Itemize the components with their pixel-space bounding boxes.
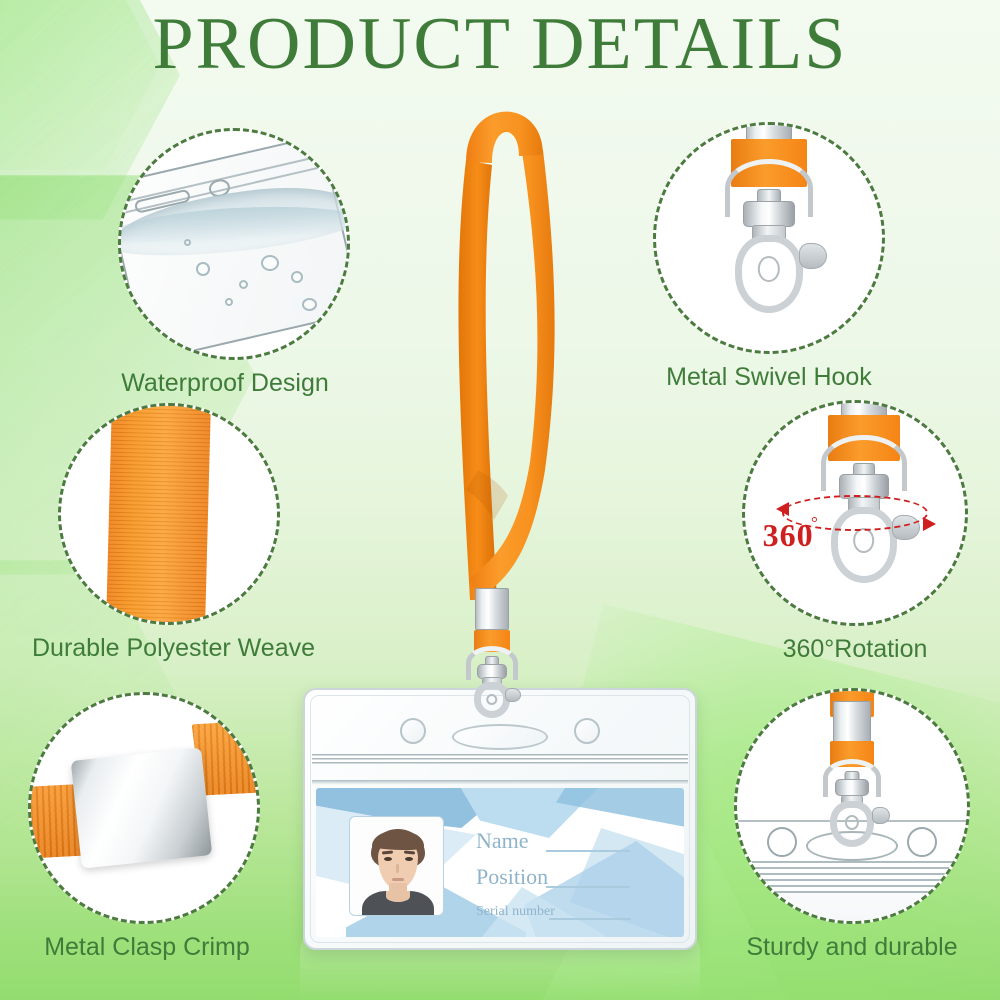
feature-caption: 360°Rotation bbox=[742, 635, 968, 664]
badge-hole-right bbox=[574, 718, 600, 744]
field-label-name: Name bbox=[476, 828, 529, 854]
feature-metal-clasp-crimp[interactable]: Metal Clasp Crimp bbox=[28, 692, 260, 962]
feature-durable-polyester-weave[interactable]: Durable Polyester Weave bbox=[58, 403, 315, 663]
waterproof-design-image bbox=[118, 128, 350, 360]
metal-clasp-crimp-image bbox=[28, 692, 260, 924]
feature-sturdy-and-durable[interactable]: Sturdy and durable bbox=[734, 688, 970, 962]
feature-waterproof-design[interactable]: Waterproof Design bbox=[118, 128, 350, 398]
rotation-degree-symbol: ° bbox=[811, 513, 818, 533]
feature-caption: Durable Polyester Weave bbox=[32, 634, 315, 663]
avatar bbox=[349, 816, 444, 916]
feature-caption: Metal Swivel Hook bbox=[653, 363, 885, 392]
center-swivel-hook bbox=[449, 588, 535, 718]
sturdy-and-durable-image bbox=[734, 688, 970, 924]
badge-zip-lines bbox=[734, 861, 970, 893]
badge-hole bbox=[767, 827, 797, 857]
rotation-image: 360 ° bbox=[742, 400, 968, 626]
durable-polyester-weave-image bbox=[58, 403, 280, 625]
page-title: PRODUCT DETAILS bbox=[0, 6, 1000, 84]
id-badge-holder[interactable]: Name Position Serial number bbox=[303, 688, 697, 950]
field-label-position: Position bbox=[476, 864, 548, 890]
feature-360-rotation[interactable]: 360 ° 360°Rotation bbox=[742, 400, 968, 664]
metal-crimp-icon bbox=[31, 695, 257, 921]
field-label-serial-number: Serial number bbox=[476, 904, 555, 920]
field-rule-position bbox=[546, 886, 630, 888]
badge-hole bbox=[907, 827, 937, 857]
badge-zip-seal-secondary bbox=[312, 780, 688, 785]
rotation-arrow-left bbox=[776, 502, 789, 516]
rotation-arrow-right bbox=[923, 517, 936, 531]
feature-caption: Sturdy and durable bbox=[734, 933, 970, 962]
badge-hole-left bbox=[400, 718, 426, 744]
feature-caption: Waterproof Design bbox=[100, 369, 350, 398]
field-rule-name bbox=[546, 850, 630, 852]
id-card: Name Position Serial number bbox=[316, 788, 684, 937]
feature-caption: Metal Clasp Crimp bbox=[34, 933, 260, 962]
badge-zip-seal bbox=[312, 754, 688, 764]
metal-swivel-hook-image bbox=[653, 122, 885, 354]
field-rule-serial-number bbox=[549, 918, 631, 920]
feature-metal-swivel-hook[interactable]: Metal Swivel Hook bbox=[653, 122, 885, 392]
badge-slot bbox=[452, 724, 548, 750]
woven-strap-icon bbox=[105, 403, 210, 625]
rotation-value: 360 bbox=[763, 517, 814, 554]
